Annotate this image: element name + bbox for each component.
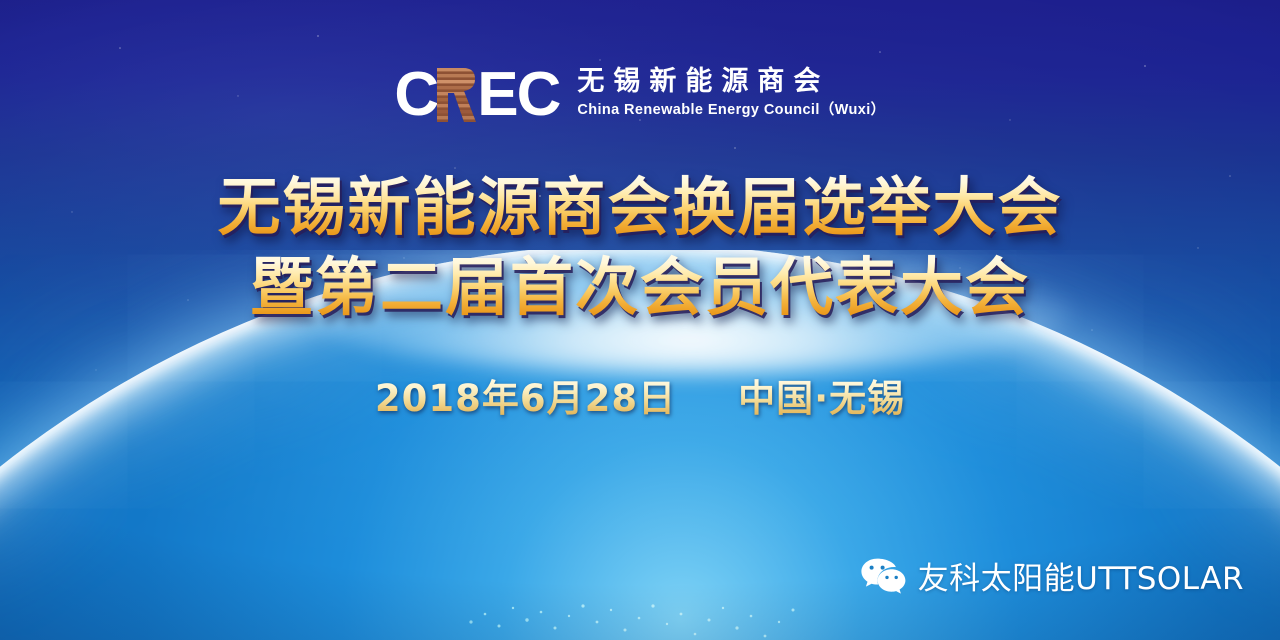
logo-letter-c2: C xyxy=(517,64,560,126)
cec-acronym: C xyxy=(394,64,559,126)
title-line-1: 无锡新能源商会换届选举大会 xyxy=(0,168,1280,248)
cec-logo: C xyxy=(0,64,1280,126)
striped-solar-panel-r-icon xyxy=(433,66,479,124)
org-name-en: China Renewable Energy Council（Wuxi） xyxy=(577,101,885,119)
wechat-icon xyxy=(860,557,906,602)
title-line-2: 暨第二届首次会员代表大会 xyxy=(0,248,1280,328)
org-name-cn: 无锡新能源商会 xyxy=(577,66,885,97)
event-meta: 2018年6月28日 中国·无锡 xyxy=(0,375,1280,423)
wechat-watermark: 友科太阳能UTTSOLAR xyxy=(860,557,1244,602)
page-title: 无锡新能源商会换届选举大会 暨第二届首次会员代表大会 xyxy=(0,168,1280,328)
logo-org-names: 无锡新能源商会 China Renewable Energy Council（W… xyxy=(577,64,885,119)
wechat-account-name: 友科太阳能UTTSOLAR xyxy=(918,564,1244,595)
conference-poster: C xyxy=(0,0,1280,640)
event-date: 2018年6月28日 xyxy=(375,375,676,423)
logo-letter-e: E xyxy=(477,64,516,126)
event-location: 中国·无锡 xyxy=(738,375,905,423)
logo-letter-c1: C xyxy=(394,64,437,126)
